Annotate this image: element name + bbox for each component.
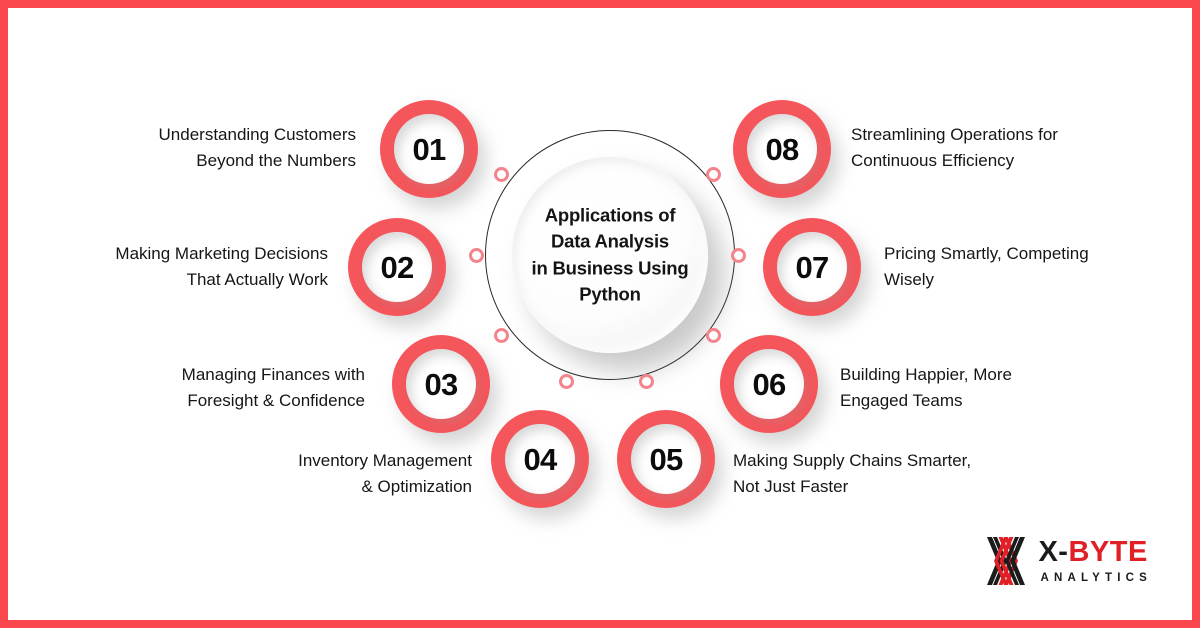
caption-03: Managing Finances with Foresight & Confi…: [80, 362, 365, 414]
center-hub: Applications of Data Analysis in Busines…: [485, 130, 735, 380]
caption-05-line-2: Not Just Faster: [733, 474, 1033, 500]
step-number-03: 03: [425, 369, 458, 400]
connector-node-07: [731, 248, 746, 263]
logo-wordmark: X-BYTE: [1038, 538, 1152, 567]
hub-title-line-2: Data Analysis: [503, 229, 717, 255]
step-number-04: 04: [524, 444, 557, 475]
caption-02: Making Marketing Decisions That Actually…: [28, 241, 328, 293]
caption-03-line-2: Foresight & Confidence: [80, 388, 365, 414]
step-bubble-inner-04: 04: [505, 424, 575, 494]
caption-05-line-1: Making Supply Chains Smarter,: [733, 448, 1033, 474]
caption-07-line-1: Pricing Smartly, Competing: [884, 241, 1174, 267]
caption-08-line-2: Continuous Efficiency: [851, 148, 1146, 174]
step-bubble-02[interactable]: 02: [348, 218, 446, 316]
caption-06-line-2: Engaged Teams: [840, 388, 1130, 414]
connector-node-01: [494, 167, 509, 182]
step-number-05: 05: [650, 444, 683, 475]
caption-02-line-2: That Actually Work: [28, 267, 328, 293]
connector-node-06: [706, 328, 721, 343]
hub-title-line-1: Applications of: [503, 202, 717, 228]
caption-05: Making Supply Chains Smarter, Not Just F…: [733, 448, 1033, 500]
caption-04: Inventory Management & Optimization: [195, 448, 472, 500]
step-bubble-inner-01: 01: [394, 114, 464, 184]
logo-word-suffix: BYTE: [1068, 536, 1147, 568]
caption-04-line-1: Inventory Management: [195, 448, 472, 474]
caption-01: Understanding Customers Beyond the Numbe…: [60, 122, 356, 174]
step-bubble-inner-05: 05: [631, 424, 701, 494]
connector-node-08: [706, 167, 721, 182]
caption-01-line-2: Beyond the Numbers: [60, 148, 356, 174]
hub-title: Applications of Data Analysis in Busines…: [503, 202, 717, 307]
step-number-06: 06: [753, 369, 786, 400]
step-bubble-01[interactable]: 01: [380, 100, 478, 198]
caption-07-line-2: Wisely: [884, 267, 1174, 293]
connector-node-03: [494, 328, 509, 343]
caption-03-line-1: Managing Finances with: [80, 362, 365, 388]
logo-text-block: X-BYTE ANALYTICS: [1038, 538, 1152, 584]
caption-02-line-1: Making Marketing Decisions: [28, 241, 328, 267]
connector-node-04: [559, 374, 574, 389]
step-bubble-04[interactable]: 04: [491, 410, 589, 508]
caption-06-line-1: Building Happier, More: [840, 362, 1130, 388]
step-number-01: 01: [413, 134, 446, 165]
caption-06: Building Happier, More Engaged Teams: [840, 362, 1130, 414]
step-bubble-inner-06: 06: [734, 349, 804, 419]
logo-word-prefix: X-: [1038, 536, 1068, 568]
step-bubble-inner-07: 07: [777, 232, 847, 302]
caption-08: Streamlining Operations for Continuous E…: [851, 122, 1146, 174]
caption-04-line-2: & Optimization: [195, 474, 472, 500]
step-number-07: 07: [796, 252, 829, 283]
step-bubble-inner-02: 02: [362, 232, 432, 302]
logo-tagline: ANALYTICS: [1040, 572, 1152, 584]
step-bubble-inner-08: 08: [747, 114, 817, 184]
caption-07: Pricing Smartly, Competing Wisely: [884, 241, 1174, 293]
connector-node-05: [639, 374, 654, 389]
hub-title-line-4: Python: [503, 281, 717, 307]
connector-node-02: [469, 248, 484, 263]
step-bubble-05[interactable]: 05: [617, 410, 715, 508]
caption-01-line-1: Understanding Customers: [60, 122, 356, 148]
step-number-02: 02: [381, 252, 414, 283]
step-bubble-07[interactable]: 07: [763, 218, 861, 316]
brand-logo[interactable]: X-BYTE ANALYTICS: [986, 536, 1152, 586]
hub-title-line-3: in Business Using: [503, 255, 717, 281]
step-number-08: 08: [766, 134, 799, 165]
step-bubble-08[interactable]: 08: [733, 100, 831, 198]
step-bubble-03[interactable]: 03: [392, 335, 490, 433]
infographic-canvas: Applications of Data Analysis in Busines…: [0, 0, 1200, 628]
step-bubble-inner-03: 03: [406, 349, 476, 419]
step-bubble-06[interactable]: 06: [720, 335, 818, 433]
x-byte-logo-icon: [986, 536, 1026, 586]
caption-08-line-1: Streamlining Operations for: [851, 122, 1146, 148]
